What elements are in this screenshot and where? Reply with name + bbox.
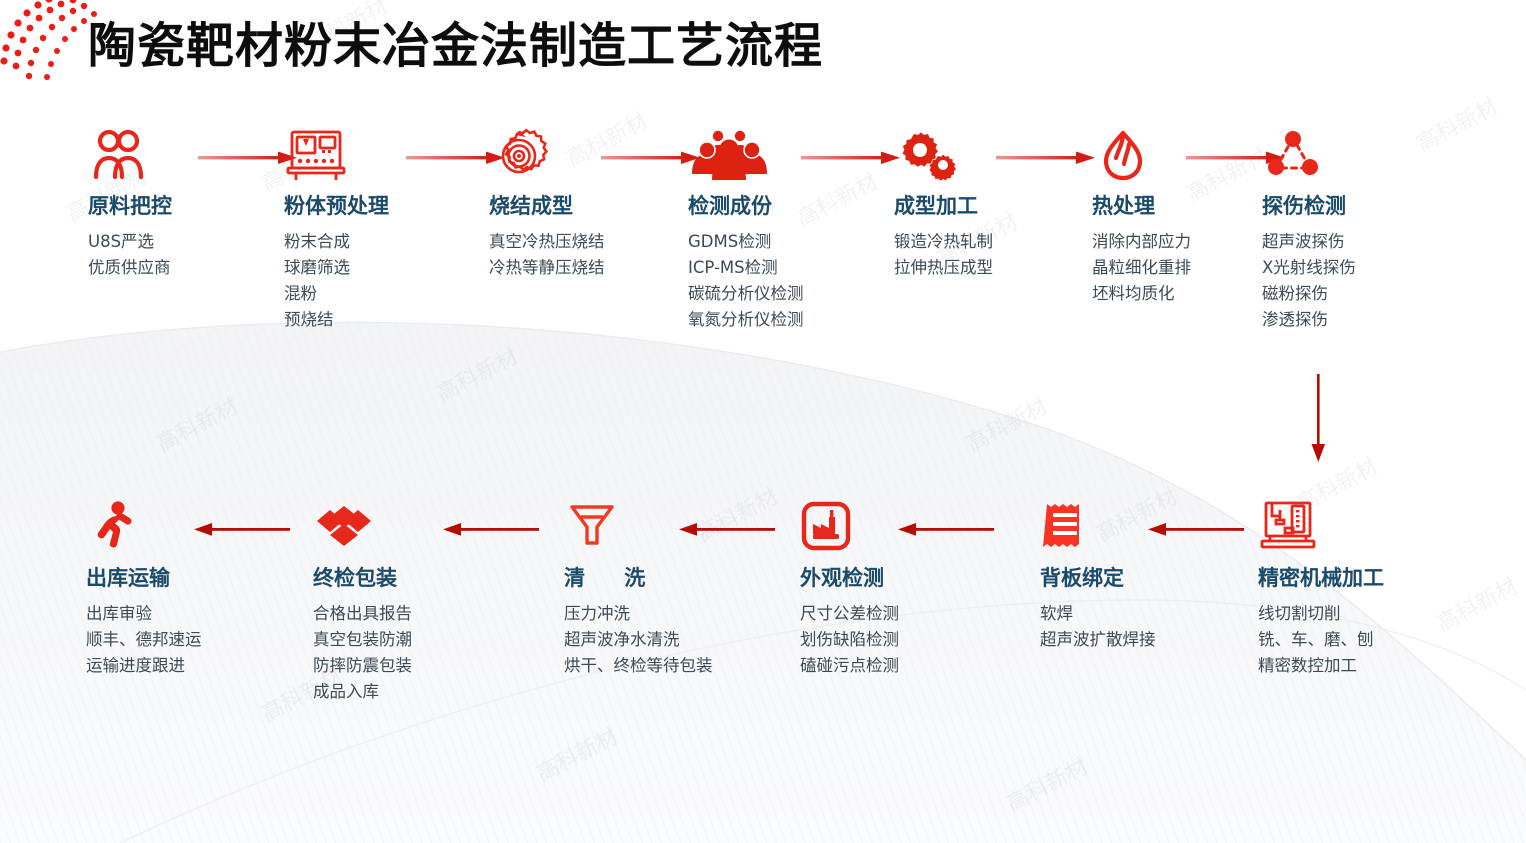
- watermark-text: 高科新材: [960, 389, 1053, 459]
- step-detail: 冷热等静压烧结: [489, 255, 605, 281]
- watermark-text: 高科新材: [1000, 749, 1093, 819]
- step-detail: 运输进度跟进: [86, 653, 202, 679]
- machine-icon: [284, 128, 389, 184]
- step-detail: 成品入库: [313, 679, 412, 705]
- open-box-icon: [313, 500, 412, 556]
- factory-badge-icon: [800, 500, 899, 556]
- step-detail: 尺寸公差检测: [800, 601, 899, 627]
- process-step-8[interactable]: 精密机械加工 线切割切削 铣、车、磨、刨 精密数控加工: [1258, 500, 1384, 679]
- step-detail: 渗透探伤: [1262, 307, 1356, 333]
- step-detail: 坯料均质化: [1092, 281, 1191, 307]
- receipt-icon: [1040, 500, 1156, 556]
- step-detail-list: 合格出具报告 真空包装防潮 防摔防震包装 成品入库: [313, 601, 412, 705]
- step-detail: 合格出具报告: [313, 601, 412, 627]
- funnel-icon: [564, 500, 742, 556]
- watermark-text: 高科新材: [1410, 89, 1503, 159]
- flow-arrow-left: [1148, 518, 1244, 542]
- process-step-13[interactable]: 出库运输 出库审验 顺丰、德邦速运 运输进度跟进: [86, 500, 202, 679]
- step-detail: 晶粒细化重排: [1092, 255, 1191, 281]
- flow-arrow-left: [194, 518, 290, 542]
- step-title: 检测成份: [688, 190, 804, 220]
- step-detail: 软焊: [1040, 601, 1156, 627]
- step-detail: 氧氮分析仪检测: [688, 307, 804, 333]
- step-detail: 烘干、终检等待包装: [564, 653, 742, 679]
- watermark-text: 高科新材: [790, 164, 883, 234]
- step-detail: 顺丰、德邦速运: [86, 627, 202, 653]
- step-detail: 超声波探伤: [1262, 229, 1356, 255]
- step-detail: 真空冷热压烧结: [489, 229, 605, 255]
- flow-arrow-left: [898, 518, 994, 542]
- step-title: 出库运输: [86, 562, 202, 592]
- process-step-10[interactable]: 外观检测 尺寸公差检测 划伤缺陷检测 磕碰污点检测: [800, 500, 899, 679]
- process-step-11[interactable]: 清 洗 压力冲洗 超声波净水清洗 烘干、终检等待包装: [564, 500, 742, 679]
- step-detail: 精密数控加工: [1258, 653, 1384, 679]
- flow-arrow-right: [801, 146, 903, 170]
- step-title: 成型加工: [894, 190, 993, 220]
- step-detail: 压力冲洗: [564, 601, 742, 627]
- cnc-machine-icon: [1258, 500, 1384, 556]
- page-title: 陶瓷靶材粉末冶金法制造工艺流程: [88, 6, 823, 76]
- step-detail-list: U8S严选 优质供应商: [88, 229, 172, 281]
- step-detail: U8S严选: [88, 229, 172, 255]
- step-detail: 防摔防震包装: [313, 653, 412, 679]
- step-detail-list: 软焊 超声波扩散焊接: [1040, 601, 1156, 653]
- step-detail-list: 粉末合成 球磨筛选 混粉 预烧结: [284, 229, 389, 333]
- step-detail: GDMS检测: [688, 229, 804, 255]
- gears-icon: [894, 128, 993, 184]
- step-detail-list: 消除内部应力 晶粒细化重排 坯料均质化: [1092, 229, 1191, 307]
- flow-arrow-left: [443, 518, 539, 542]
- step-title: 背板绑定: [1040, 562, 1156, 592]
- process-step-1[interactable]: 原料把控 U8S严选 优质供应商: [88, 128, 172, 281]
- process-step-4[interactable]: 检测成份 GDMS检测 ICP-MS检测 碳硫分析仪检测 氧氮分析仪检测: [688, 128, 804, 333]
- step-title: 热处理: [1092, 190, 1191, 220]
- process-step-12[interactable]: 终检包装 合格出具报告 真空包装防潮 防摔防震包装 成品入库: [313, 500, 412, 705]
- watermark-text: 高科新材: [150, 389, 243, 459]
- step-detail: 真空包装防潮: [313, 627, 412, 653]
- step-detail-list: 压力冲洗 超声波净水清洗 烘干、终检等待包装: [564, 601, 742, 679]
- process-step-2[interactable]: 粉体预处理 粉末合成 球磨筛选 混粉 预烧结: [284, 128, 389, 333]
- step-title: 探伤检测: [1262, 190, 1356, 220]
- step-title: 清 洗: [564, 562, 742, 592]
- watermark-text: 高科新材: [1430, 569, 1523, 639]
- step-detail: 超声波扩散焊接: [1040, 627, 1156, 653]
- step-detail: 球磨筛选: [284, 255, 389, 281]
- process-step-6[interactable]: 热处理 消除内部应力 晶粒细化重排 坯料均质化: [1092, 128, 1191, 307]
- watermark-layer: 高科新材 高科新材 高科新材 高科新材 高科新材 高科新材 高科新材 高科新材 …: [0, 0, 1526, 843]
- step-detail: 出库审验: [86, 601, 202, 627]
- step-detail-list: GDMS检测 ICP-MS检测 碳硫分析仪检测 氧氮分析仪检测: [688, 229, 804, 333]
- step-detail: 划伤缺陷检测: [800, 627, 899, 653]
- step-detail: 线切割切削: [1258, 601, 1384, 627]
- process-step-3[interactable]: 烧结成型 真空冷热压烧结 冷热等静压烧结: [489, 128, 605, 281]
- step-detail: 磁粉探伤: [1262, 281, 1356, 307]
- step-detail: ICP-MS检测: [688, 255, 804, 281]
- step-detail: 粉末合成: [284, 229, 389, 255]
- triangle-nodes-icon: [1262, 128, 1356, 184]
- two-people-icon: [88, 128, 172, 184]
- step-detail: 磕碰污点检测: [800, 653, 899, 679]
- step-detail: 优质供应商: [88, 255, 172, 281]
- step-title: 原料把控: [88, 190, 172, 220]
- step-detail: 锻造冷热轧制: [894, 229, 993, 255]
- step-detail: 消除内部应力: [1092, 229, 1191, 255]
- step-detail-list: 超声波探伤 X光射线探伤 磁粉探伤 渗透探伤: [1262, 229, 1356, 333]
- watermark-text: 高科新材: [530, 719, 623, 789]
- watermark-text: 高科新材: [430, 339, 523, 409]
- flow-arrow-down: [1305, 374, 1333, 464]
- step-detail: 铣、车、磨、刨: [1258, 627, 1384, 653]
- step-detail-list: 尺寸公差检测 划伤缺陷检测 磕碰污点检测: [800, 601, 899, 679]
- people-group-icon: [688, 128, 804, 184]
- background-swoosh: [0, 0, 1526, 843]
- step-title: 终检包装: [313, 562, 412, 592]
- step-detail-list: 锻造冷热轧制 拉伸热压成型: [894, 229, 993, 281]
- step-title: 粉体预处理: [284, 190, 389, 220]
- running-person-icon: [86, 500, 202, 556]
- process-step-7[interactable]: 探伤检测 超声波探伤 X光射线探伤 磁粉探伤 渗透探伤: [1262, 128, 1356, 333]
- step-title: 精密机械加工: [1258, 562, 1384, 592]
- step-detail: 碳硫分析仪检测: [688, 281, 804, 307]
- step-detail: 拉伸热压成型: [894, 255, 993, 281]
- step-detail-list: 真空冷热压烧结 冷热等静压烧结: [489, 229, 605, 281]
- step-title: 外观检测: [800, 562, 899, 592]
- step-detail-list: 线切割切削 铣、车、磨、刨 精密数控加工: [1258, 601, 1384, 679]
- flow-arrow-right: [996, 146, 1098, 170]
- step-detail-list: 出库审验 顺丰、德邦速运 运输进度跟进: [86, 601, 202, 679]
- process-step-9[interactable]: 背板绑定 软焊 超声波扩散焊接: [1040, 500, 1156, 653]
- process-step-5[interactable]: 成型加工 锻造冷热轧制 拉伸热压成型: [894, 128, 993, 281]
- step-detail: 超声波净水清洗: [564, 627, 742, 653]
- step-title: 烧结成型: [489, 190, 605, 220]
- step-detail: 预烧结: [284, 307, 389, 333]
- step-detail: X光射线探伤: [1262, 255, 1356, 281]
- flame-icon: [1092, 128, 1191, 184]
- gear-target-icon: [489, 128, 605, 184]
- step-detail: 混粉: [284, 281, 389, 307]
